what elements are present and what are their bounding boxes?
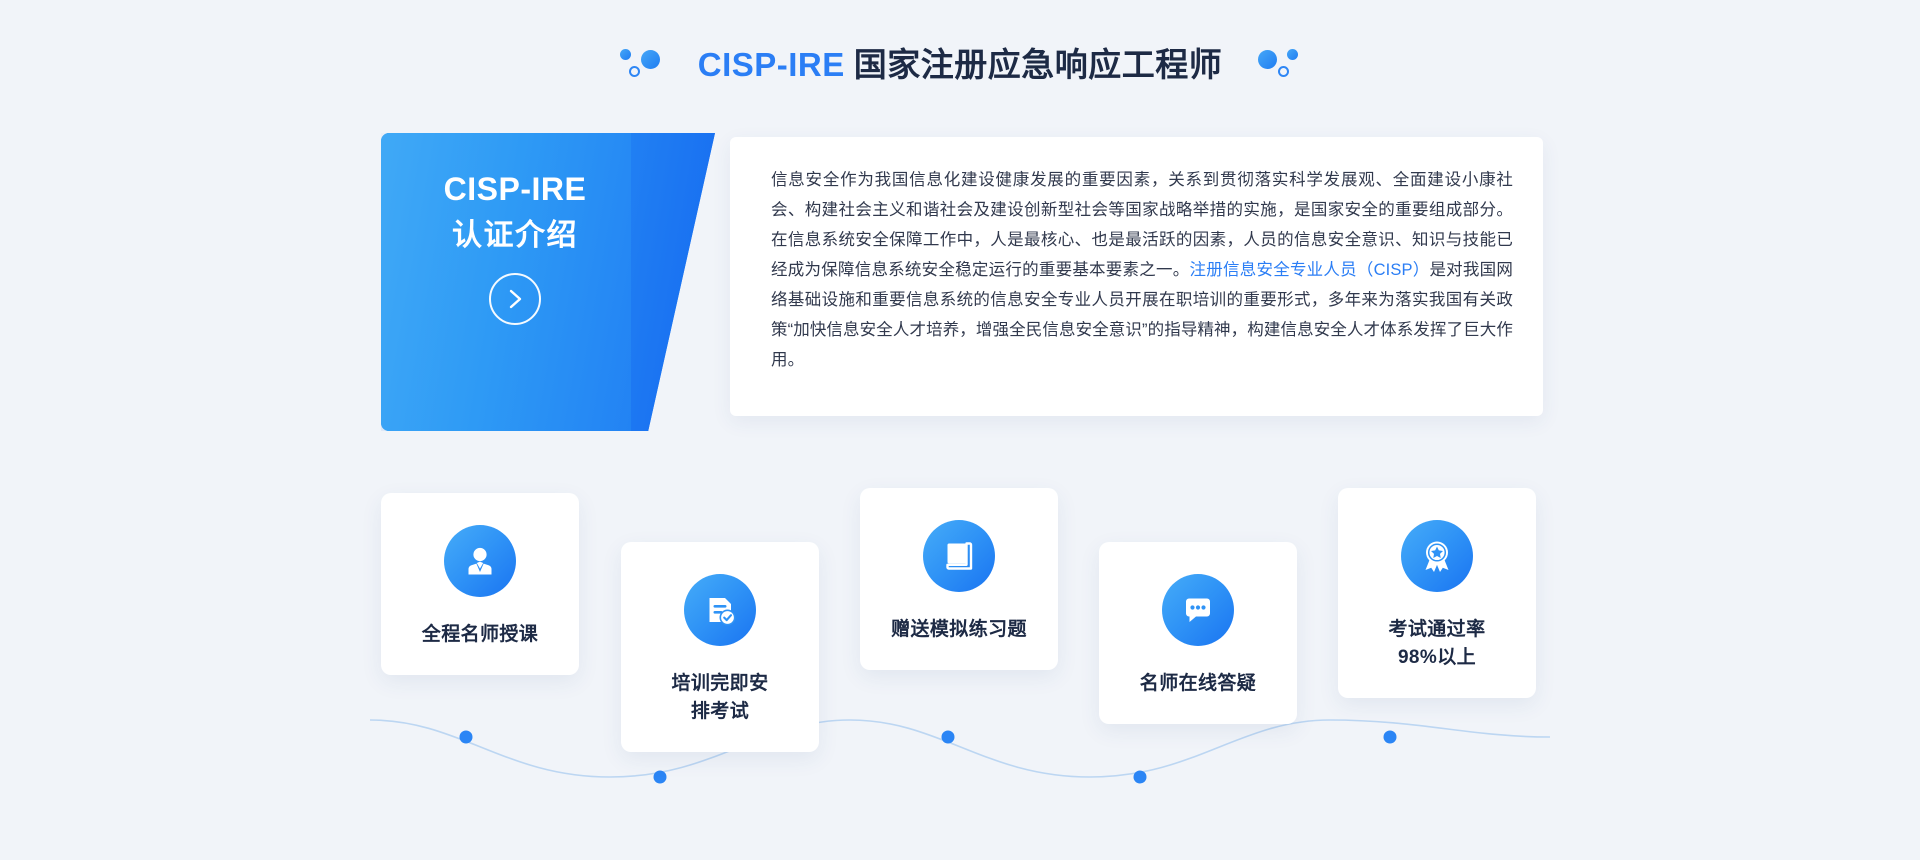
feature-card-label: 考试通过率 98%以上 bbox=[1388, 616, 1485, 672]
feature-card[interactable]: 全程名师授课 bbox=[381, 493, 579, 675]
feature-card-label: 全程名师授课 bbox=[422, 621, 538, 649]
feature-card-label: 名师在线答疑 bbox=[1140, 670, 1256, 698]
teacher-person-icon bbox=[444, 525, 516, 597]
feature-card[interactable]: 赠送模拟练习题 bbox=[860, 488, 1058, 670]
feature-card-label: 赠送模拟练习题 bbox=[891, 616, 1027, 644]
feature-card[interactable]: 名师在线答疑 bbox=[1099, 542, 1297, 724]
book-icon bbox=[923, 520, 995, 592]
chat-bubble-icon bbox=[1162, 574, 1234, 646]
document-check-icon bbox=[684, 574, 756, 646]
feature-card[interactable]: 考试通过率 98%以上 bbox=[1338, 488, 1536, 698]
features-section: 全程名师授课 培训完即安 排考试 bbox=[0, 0, 1920, 860]
page-root: CISP-IRE国家注册应急响应工程师 信息安全作为我国信息化建设健康发展的重要… bbox=[0, 0, 1920, 860]
feature-card-label: 培训完即安 排考试 bbox=[671, 670, 768, 726]
award-medal-icon bbox=[1401, 520, 1473, 592]
feature-card[interactable]: 培训完即安 排考试 bbox=[621, 542, 819, 752]
